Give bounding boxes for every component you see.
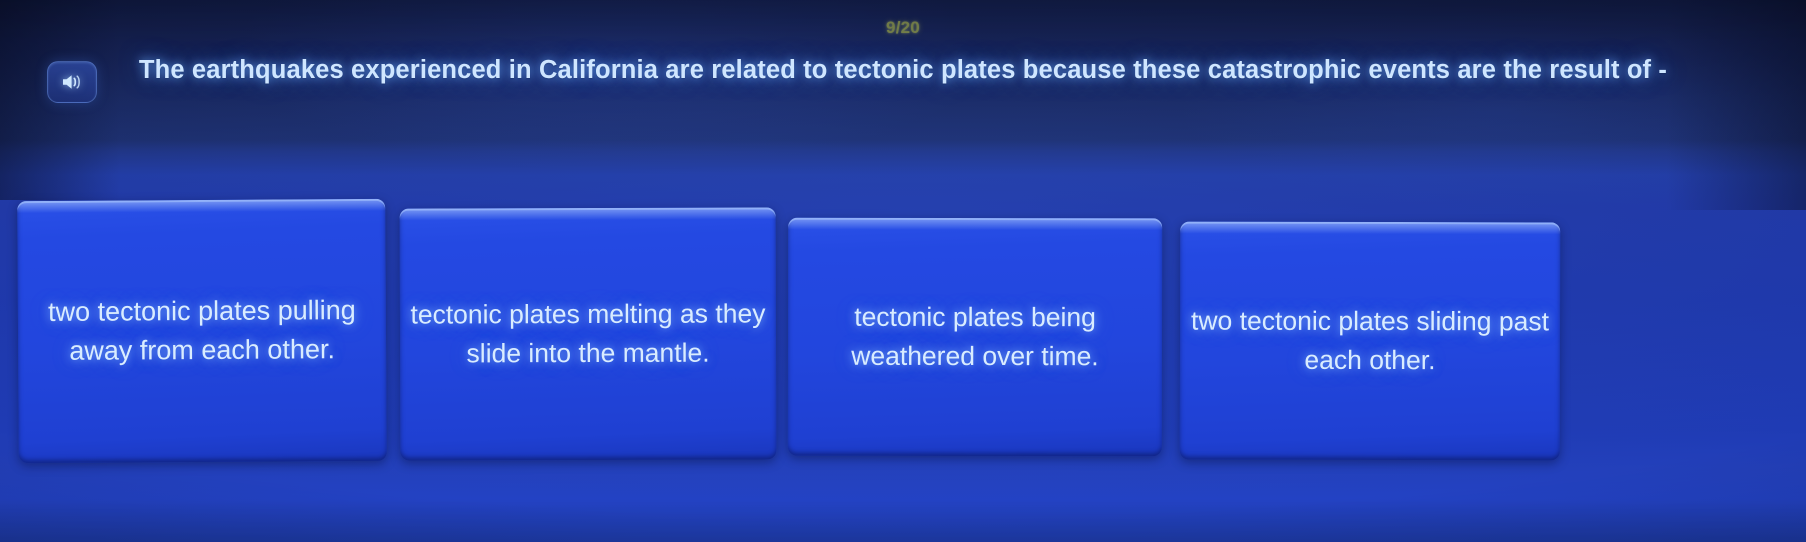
answer-option-c[interactable]: tectonic plates being weathered over tim… bbox=[788, 218, 1162, 457]
answer-option-a[interactable]: two tectonic plates pulling away from ea… bbox=[17, 199, 387, 463]
audio-play-button[interactable] bbox=[47, 61, 97, 103]
answer-option-c-label: tectonic plates being weathered over tim… bbox=[788, 298, 1162, 377]
answer-option-d-label: two tectonic plates sliding past each ot… bbox=[1180, 302, 1560, 381]
progress-counter: 9/20 bbox=[0, 18, 1806, 38]
answer-option-b[interactable]: tectonic plates melting as they slide in… bbox=[400, 207, 777, 460]
speaker-icon bbox=[61, 73, 83, 91]
answer-option-b-label: tectonic plates melting as they slide in… bbox=[400, 294, 776, 373]
answer-option-a-label: two tectonic plates pulling away from ea… bbox=[18, 291, 386, 371]
quiz-screen: 9/20 The earthquakes experienced in Cali… bbox=[0, 0, 1806, 542]
question-row: The earthquakes experienced in Californi… bbox=[0, 52, 1806, 142]
question-text: The earthquakes experienced in Californi… bbox=[120, 52, 1686, 88]
answer-option-d[interactable]: two tectonic plates sliding past each ot… bbox=[1180, 222, 1560, 461]
